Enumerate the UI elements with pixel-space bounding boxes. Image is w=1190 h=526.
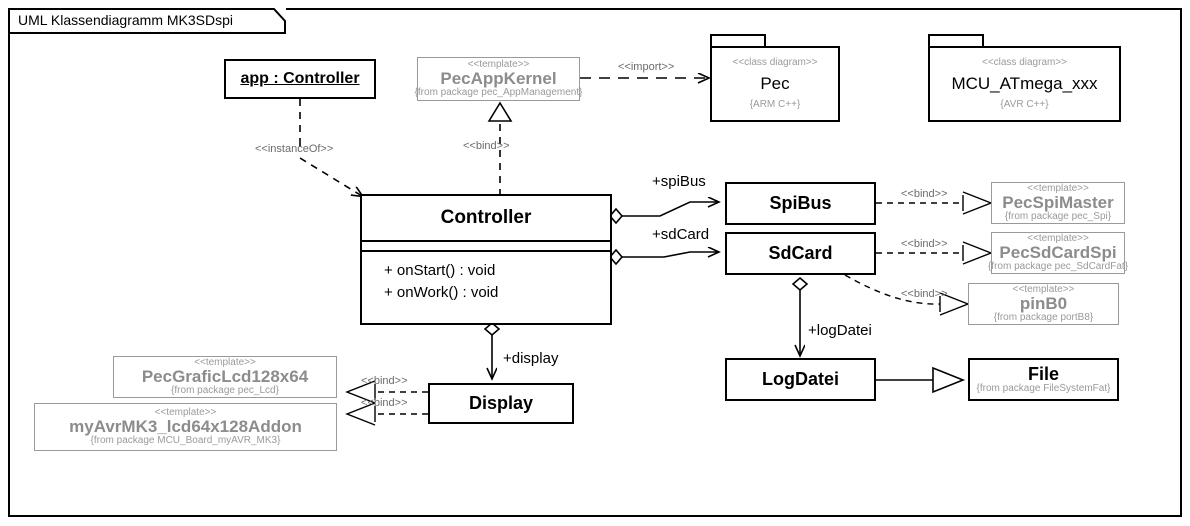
pec-grafic-lcd-name: PecGraficLcd128x64 <box>142 368 308 386</box>
pin-b0-name: pinB0 <box>1020 295 1067 313</box>
class-spibus[interactable]: SpiBus <box>725 182 876 225</box>
class-display-name: Display <box>469 394 533 413</box>
class-sdcard-name: SdCard <box>768 244 832 263</box>
pec-spi-master-name: PecSpiMaster <box>1002 194 1114 212</box>
package-pec-body: <<class diagram>> Pec {ARM C++} <box>710 46 840 122</box>
package-mcu-atmega-stereotype: <<class diagram>> <box>982 58 1067 69</box>
package-mcu-atmega-tagged-value: {AVR C++} <box>1000 100 1048 111</box>
class-myavr-lcd-addon[interactable]: <<template>> myAvrMK3_lcd64x128Addon {fr… <box>34 403 337 451</box>
package-mcu-atmega-body: <<class diagram>> MCU_ATmega_xxx {AVR C+… <box>928 46 1121 122</box>
package-mcu-atmega[interactable]: <<class diagram>> MCU_ATmega_xxx {AVR C+… <box>928 34 1121 122</box>
class-pin-b0[interactable]: <<template>> pinB0 {from package portB8} <box>968 283 1119 325</box>
pec-sdcard-spi-name: PecSdCardSpi <box>999 244 1116 262</box>
role-label-spibus: +spiBus <box>652 173 706 190</box>
edge-label-bind-sdcardspi: <<bind>> <box>901 238 948 250</box>
edge-label-bind-appkernel: <<bind>> <box>463 140 510 152</box>
role-label-sdcard: +sdCard <box>652 226 709 243</box>
diagram-frame-title-tab: UML Klassendiagramm MK3SDspi <box>8 8 286 34</box>
pec-grafic-lcd-package: {from package pec_Lcd} <box>171 386 279 397</box>
role-label-logdatei: +logDatei <box>808 322 872 339</box>
class-controller-attribute-compartment <box>362 242 610 252</box>
edge-label-instance-of: <<instanceOf>> <box>255 143 333 155</box>
class-file[interactable]: File {from package FileSystemFat} <box>968 358 1119 401</box>
class-pec-spi-master[interactable]: <<template>> PecSpiMaster {from package … <box>991 182 1125 224</box>
package-pec-tagged-value: {ARM C++} <box>750 100 801 111</box>
class-pec-sdcard-spi[interactable]: <<template>> PecSdCardSpi {from package … <box>991 232 1125 274</box>
pec-app-kernel-name: PecAppKernel <box>440 70 556 88</box>
class-sdcard[interactable]: SdCard <box>725 232 876 275</box>
myavr-lcd-addon-package: {from package MCU_Board_myAVR_MK3} <box>91 436 281 447</box>
edge-label-bind-graficlcd: <<bind>> <box>361 375 408 387</box>
package-pec[interactable]: <<class diagram>> Pec {ARM C++} <box>710 34 840 122</box>
class-logdatei-name: LogDatei <box>762 370 839 389</box>
role-label-display: +display <box>503 350 558 367</box>
class-file-name: File <box>1028 365 1059 384</box>
uml-class-diagram-canvas: UML Klassendiagramm MK3SDspi vertical dr… <box>0 0 1190 526</box>
pec-app-kernel-package: {from package pec_AppManagement} <box>415 88 583 99</box>
class-pec-grafic-lcd[interactable]: <<template>> PecGraficLcd128x64 {from pa… <box>113 356 337 398</box>
object-app-controller-label: app : Controller <box>240 70 359 88</box>
package-pec-stereotype: <<class diagram>> <box>732 58 817 69</box>
class-logdatei[interactable]: LogDatei <box>725 358 876 401</box>
edge-label-import: <<import>> <box>618 61 674 73</box>
edge-label-bind-lcdaddon: <<bind>> <box>361 397 408 409</box>
object-app-controller[interactable]: app : Controller <box>224 59 376 99</box>
pin-b0-package: {from package portB8} <box>994 313 1094 324</box>
class-controller-operation: + onStart() : void <box>384 260 610 282</box>
class-display[interactable]: Display <box>428 383 574 424</box>
class-file-package: {from package FileSystemFat} <box>977 384 1111 395</box>
class-spibus-name: SpiBus <box>769 194 831 213</box>
myavr-lcd-addon-name: myAvrMK3_lcd64x128Addon <box>69 418 302 436</box>
class-controller-operation: + onWork() : void <box>384 282 610 304</box>
edge-label-bind-spimaster: <<bind>> <box>901 188 948 200</box>
package-mcu-atmega-name: MCU_ATmega_xxx <box>951 74 1097 94</box>
edge-label-bind-pinb0: <<bind>> <box>901 288 948 300</box>
pec-sdcard-spi-package: {from package pec_SdCardFat} <box>988 262 1128 273</box>
diagram-title: UML Klassendiagramm MK3SDspi <box>18 12 233 28</box>
class-controller[interactable]: Controller + onStart() : void + onWork()… <box>360 194 612 325</box>
class-controller-name: Controller <box>441 207 532 229</box>
class-controller-name-compartment: Controller <box>362 196 610 242</box>
class-controller-operation-compartment: + onStart() : void + onWork() : void <box>362 252 610 304</box>
pec-spi-master-package: {from package pec_Spi} <box>1005 212 1111 223</box>
package-pec-name: Pec <box>760 74 789 94</box>
class-pec-app-kernel[interactable]: <<template>> PecAppKernel {from package … <box>417 57 580 101</box>
